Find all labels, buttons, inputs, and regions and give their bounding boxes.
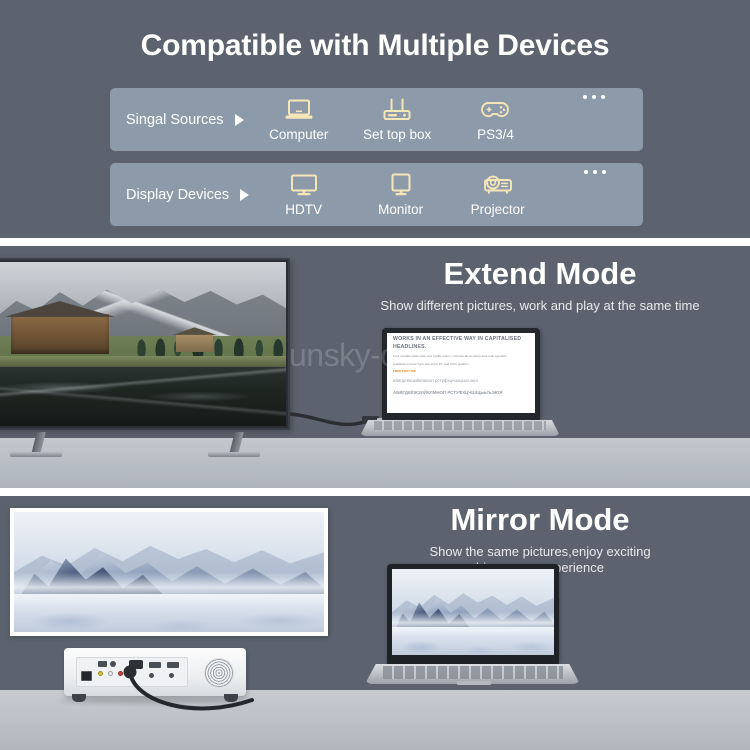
play-triangle-icon xyxy=(240,189,249,201)
signal-sources-panel: Singal Sources Computer xyxy=(110,88,643,151)
device-projector[interactable]: Projector xyxy=(449,163,546,217)
projection-screen xyxy=(10,508,328,636)
laptop-lid xyxy=(387,564,559,664)
device-label: Set top box xyxy=(363,127,431,142)
extend-mode-subtitle: Show different pictures, work and play a… xyxy=(330,298,750,314)
cyrillic-lowercase: абвгдеёжзийклмноп рстуфхцчшщьыъэюя xyxy=(393,378,529,385)
monitor-icon xyxy=(386,170,416,200)
tv-frame xyxy=(0,258,290,430)
laptop-keyboard[interactable] xyxy=(383,666,563,679)
projector-device xyxy=(58,648,254,710)
mirror-mode-title: Mirror Mode xyxy=(330,504,750,537)
webpage-heading: WORKS IN AN EFFECTIVE WAY IN CAPITALISED… xyxy=(393,336,529,351)
ellipsis-icon xyxy=(584,170,606,176)
ellipsis-icon xyxy=(583,95,605,101)
device-label: HDTV xyxy=(285,202,322,217)
play-triangle-icon xyxy=(235,114,244,126)
device-label: PS3/4 xyxy=(477,127,514,142)
cyrillic-uppercase: АБВГДЕЁЖЗИЙКЛМНОП РСТУФХЦЧШЩЬЫЪЭЮЯ xyxy=(393,390,529,397)
device-set-top-box[interactable]: Set top box xyxy=(348,88,446,142)
device-hdtv[interactable]: HDTV xyxy=(255,163,352,217)
device-label: Computer xyxy=(269,127,328,142)
laptop-lid: WORKS IN AN EFFECTIVE WAY IN CAPITALISED… xyxy=(382,328,540,420)
laptop-trackpad[interactable] xyxy=(457,681,491,685)
webpage-paragraph-2: Available in OpenType format for PC and … xyxy=(393,362,529,367)
mirror-mode-subtitle-line1: Show the same pictures,enjoy exciting xyxy=(330,544,750,560)
snowy-mountains-image xyxy=(392,569,554,655)
tv-screen xyxy=(0,262,286,426)
device-label: Projector xyxy=(471,202,525,217)
signal-sources-list: Computer Set top box xyxy=(250,88,643,151)
display-devices-panel: Display Devices HDTV xyxy=(110,163,643,226)
router-icon xyxy=(382,95,412,125)
more-displays[interactable] xyxy=(546,163,643,176)
extend-mode-title: Extend Mode xyxy=(330,258,750,291)
webpage-paragraph-1: Font contains basic latin and cyrillic l… xyxy=(393,354,529,359)
webpage-link[interactable]: FREE FOR USE xyxy=(393,369,529,373)
device-computer[interactable]: Computer xyxy=(250,88,348,142)
page-title: Compatible with Multiple Devices xyxy=(0,0,750,63)
font-specimen-webpage: WORKS IN AN EFFECTIVE WAY IN CAPITALISED… xyxy=(387,333,535,413)
laptop-screen: WORKS IN AN EFFECTIVE WAY IN CAPITALISED… xyxy=(387,333,535,413)
mirror-mode-section: Mirror Mode Show the same pictures,enjoy… xyxy=(0,496,750,750)
display-devices-label: Display Devices xyxy=(126,187,229,203)
display-devices-list: HDTV Monitor xyxy=(255,163,643,226)
alpine-landscape-image xyxy=(0,262,286,426)
extend-mode-section: Extend Mode Show different pictures, wor… xyxy=(0,246,750,488)
device-monitor[interactable]: Monitor xyxy=(352,163,449,217)
laptop-icon xyxy=(284,95,314,125)
snowy-mountains-image xyxy=(14,512,324,632)
hdmi-cable xyxy=(124,666,274,728)
signal-sources-label: Singal Sources xyxy=(126,112,224,128)
projector-icon xyxy=(482,170,514,200)
gamepad-icon xyxy=(479,95,511,125)
section-divider xyxy=(0,238,750,246)
device-ps34[interactable]: PS3/4 xyxy=(446,88,544,142)
compatibility-section: Compatible with Multiple Devices Singal … xyxy=(0,0,750,242)
extend-mode-heading: Extend Mode Show different pictures, wor… xyxy=(330,258,750,314)
laptop-screen xyxy=(392,569,554,655)
laptop-keyboard[interactable] xyxy=(374,421,546,430)
more-sources[interactable] xyxy=(545,88,643,101)
section-divider xyxy=(0,488,750,496)
laptop-device-mirror xyxy=(365,564,580,704)
laptop-device-extend: WORKS IN AN EFFECTIVE WAY IN CAPITALISED… xyxy=(360,328,560,448)
tv-icon xyxy=(289,170,319,200)
hdtv-device xyxy=(0,258,298,458)
device-label: Monitor xyxy=(378,202,423,217)
